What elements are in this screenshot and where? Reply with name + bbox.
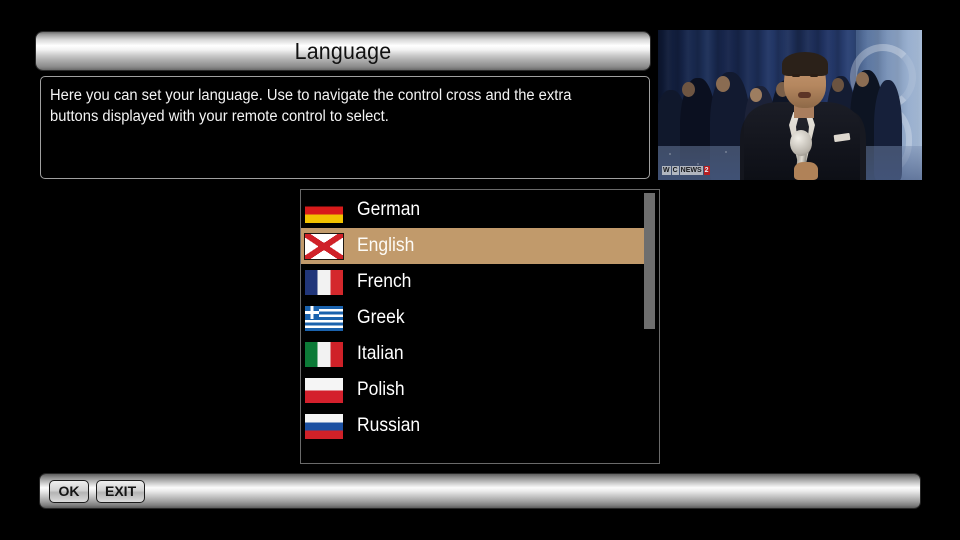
channel-logo-watermark: W C NEWS 2 (662, 166, 710, 175)
logo-segment: C (672, 166, 679, 175)
list-item[interactable]: French (301, 264, 645, 300)
list-item[interactable]: Greek (301, 300, 645, 336)
reporter-hand (794, 162, 818, 180)
footer-bar: OK EXIT (40, 474, 920, 508)
flag-germany-icon (305, 198, 343, 223)
logo-segment: 2 (704, 166, 710, 175)
reporter-hair (782, 52, 828, 76)
title-bar: Language (36, 32, 650, 70)
list-item[interactable]: Italian (301, 336, 645, 372)
list-item-label: French (357, 271, 411, 293)
list-item[interactable]: German (301, 192, 645, 228)
flag-russia-icon (305, 414, 343, 439)
flag-italy-icon (305, 342, 343, 367)
flag-greece-icon (305, 306, 343, 331)
crowd-head (750, 88, 762, 102)
flag-poland-icon (305, 378, 343, 403)
ok-button[interactable]: OK (49, 480, 89, 503)
reporter-mouth (798, 92, 811, 98)
list-item[interactable]: Polish (301, 372, 645, 408)
list-item-label: Russian (357, 415, 420, 437)
exit-button[interactable]: EXIT (96, 480, 145, 503)
microphone-icon (790, 130, 812, 156)
reporter-eye-left (792, 74, 800, 77)
logo-segment: W (662, 166, 671, 175)
list-item-label: Italian (357, 343, 404, 365)
description-text: Here you can set your language. Use to n… (50, 85, 610, 127)
crowd-head (682, 82, 695, 97)
description-panel: Here you can set your language. Use to n… (40, 76, 650, 179)
language-list-panel[interactable]: German English French Greek Italian Poli (300, 189, 660, 464)
list-item-label: English (357, 235, 414, 257)
video-preview[interactable]: W C NEWS 2 (658, 30, 922, 180)
list-item-label: Greek (357, 307, 405, 329)
scrollbar-thumb[interactable] (644, 193, 655, 329)
logo-segment: NEWS (680, 166, 703, 175)
page-title: Language (295, 38, 392, 65)
list-item-label: German (357, 199, 420, 221)
reporter-eye-right (810, 74, 818, 77)
list-item-label: Polish (357, 379, 405, 401)
crowd-head (856, 72, 869, 87)
list-item[interactable]: English (301, 228, 645, 264)
list-item[interactable]: Russian (301, 408, 645, 444)
flag-united-kingdom-icon (305, 234, 343, 259)
crowd-head (716, 76, 730, 92)
flag-france-icon (305, 270, 343, 295)
tv-settings-screen: Language Here you can set your language.… (0, 0, 960, 540)
crowd-head (832, 78, 844, 92)
language-list: German English French Greek Italian Poli (301, 192, 645, 444)
